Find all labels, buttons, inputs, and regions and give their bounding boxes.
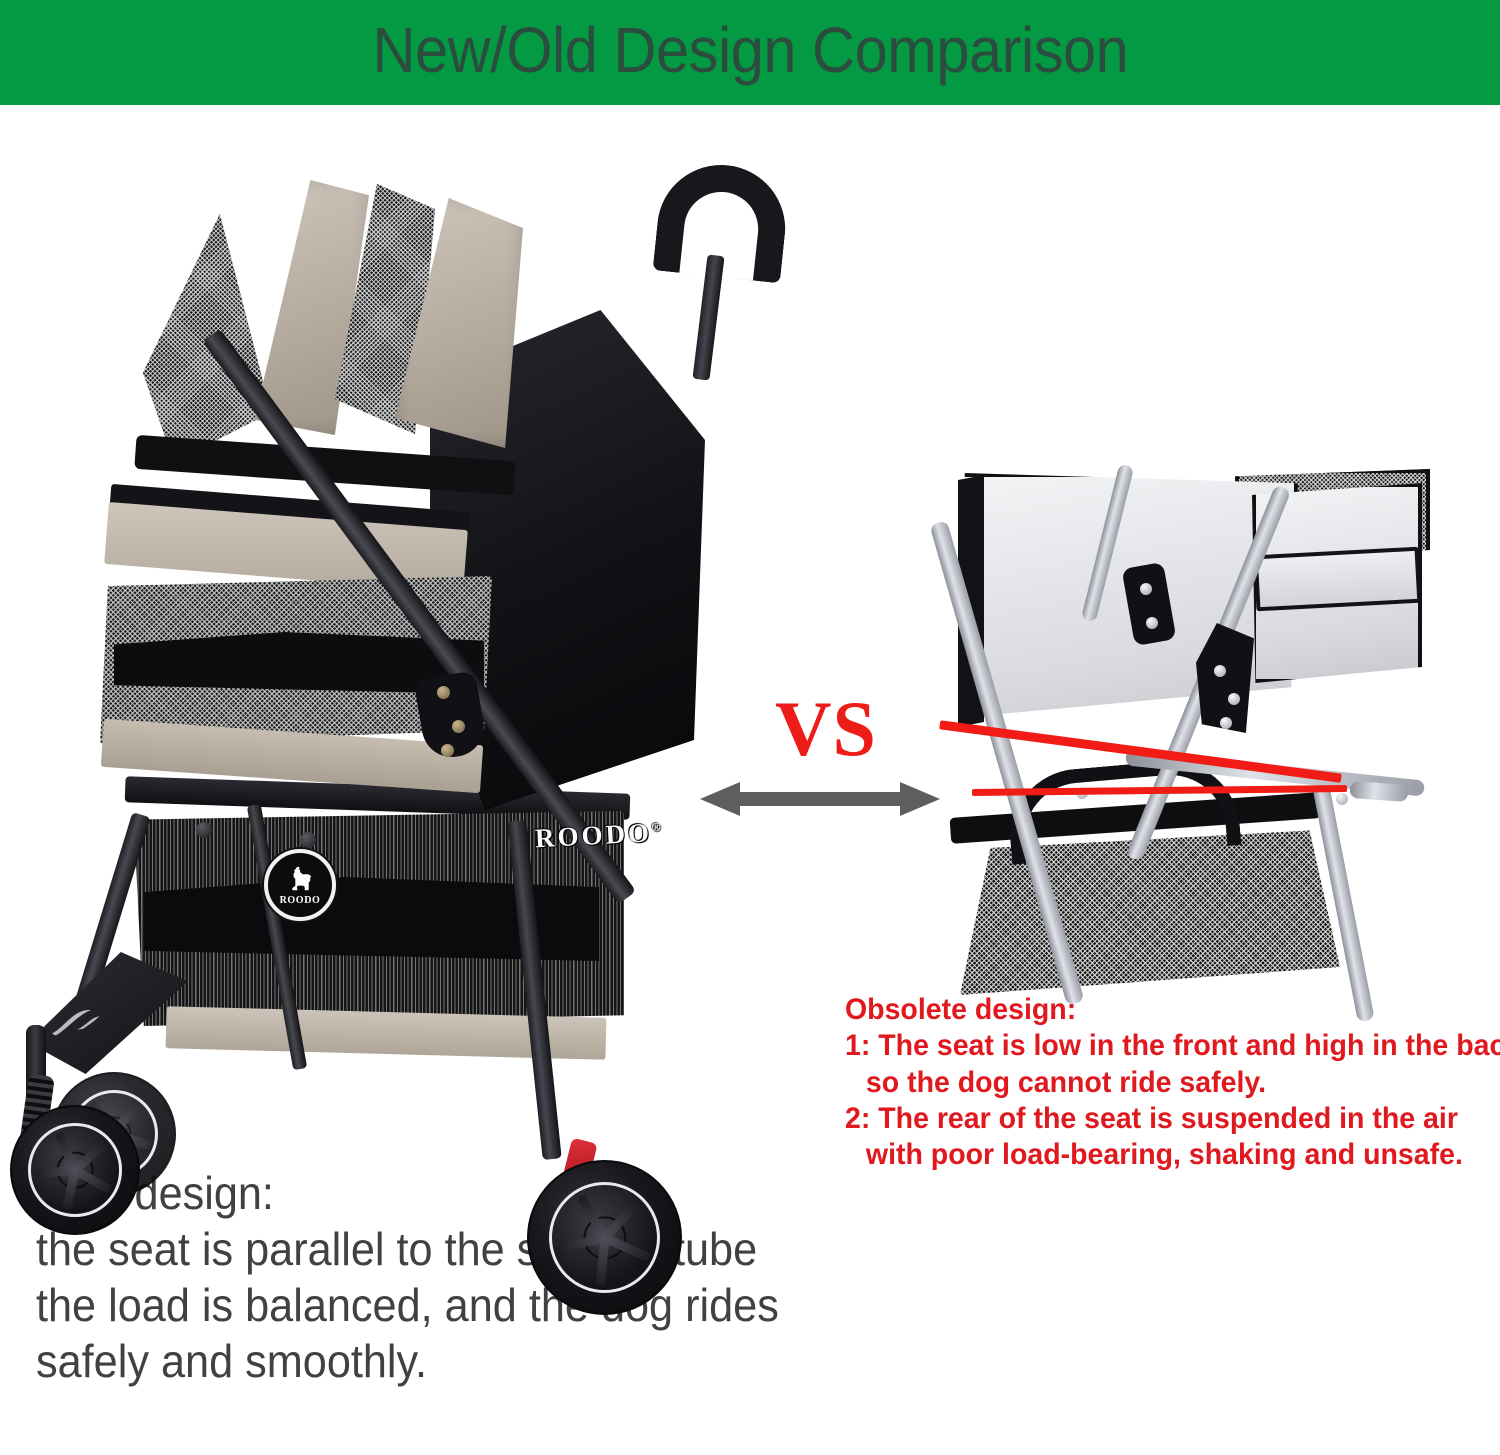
cabin-snap-button-left — [196, 822, 212, 838]
obsolete-line-2: so the dog cannot ride safely. — [845, 1065, 1467, 1101]
double-headed-arrow-icon — [700, 782, 940, 816]
hinge-rivet-bottom — [441, 744, 454, 757]
new-design-product-image: ROODO® ROODO — [0, 120, 730, 1200]
wheel-spokes — [550, 1183, 659, 1292]
old-tube-end-cap — [1349, 781, 1408, 802]
old-latch-screw-1 — [1214, 665, 1226, 677]
brand-badge: ROODO — [264, 849, 336, 921]
hinge-rivet-top — [437, 686, 450, 699]
brand-wordmark: ROODO® — [534, 817, 664, 855]
header-banner: New/Old Design Comparison — [0, 0, 1500, 105]
dog-silhouette-icon — [285, 864, 315, 894]
cabin-snap-button-right — [300, 832, 316, 848]
old-hinge-screw-bottom — [1146, 617, 1158, 629]
old-joint-screw — [1336, 793, 1348, 805]
canopy — [125, 180, 585, 510]
old-latch-screw-2 — [1228, 693, 1240, 705]
wheel-spokes — [30, 1125, 121, 1216]
brand-wordmark-text: ROODO — [534, 817, 652, 853]
new-design-line-3: safely and smoothly. — [36, 1333, 779, 1389]
rear-wheel — [527, 1160, 682, 1315]
new-design-line-2: the load is balanced, and the dog rides — [36, 1277, 779, 1333]
old-hinge-screw-top — [1140, 583, 1152, 595]
comparison-infographic: New/Old Design Comparison — [0, 0, 1500, 1455]
old-latch-screw-3 — [1220, 717, 1232, 729]
obsolete-line-3: 2: The rear of the seat is suspended in … — [845, 1101, 1467, 1137]
vs-comparison-marker: VS — [700, 690, 945, 830]
page-title: New/Old Design Comparison — [372, 18, 1128, 88]
vs-label: VS — [746, 690, 906, 768]
obsolete-design-caption: Obsolete design: 1: The seat is low in t… — [845, 992, 1467, 1173]
hinge-rivet-mid — [452, 720, 465, 733]
obsolete-design-product-image — [950, 465, 1495, 995]
footplate-logo-icon — [48, 996, 126, 1040]
obsolete-heading: Obsolete design: — [845, 992, 1467, 1028]
obsolete-line-1: 1: The seat is low in the front and high… — [845, 1028, 1467, 1064]
old-pocket-flap — [1254, 547, 1422, 612]
obsolete-line-4: with poor load-bearing, shaking and unsa… — [845, 1137, 1467, 1173]
registered-mark: ® — [651, 820, 664, 835]
badge-label: ROODO — [280, 895, 321, 906]
front-wheel — [10, 1105, 140, 1235]
